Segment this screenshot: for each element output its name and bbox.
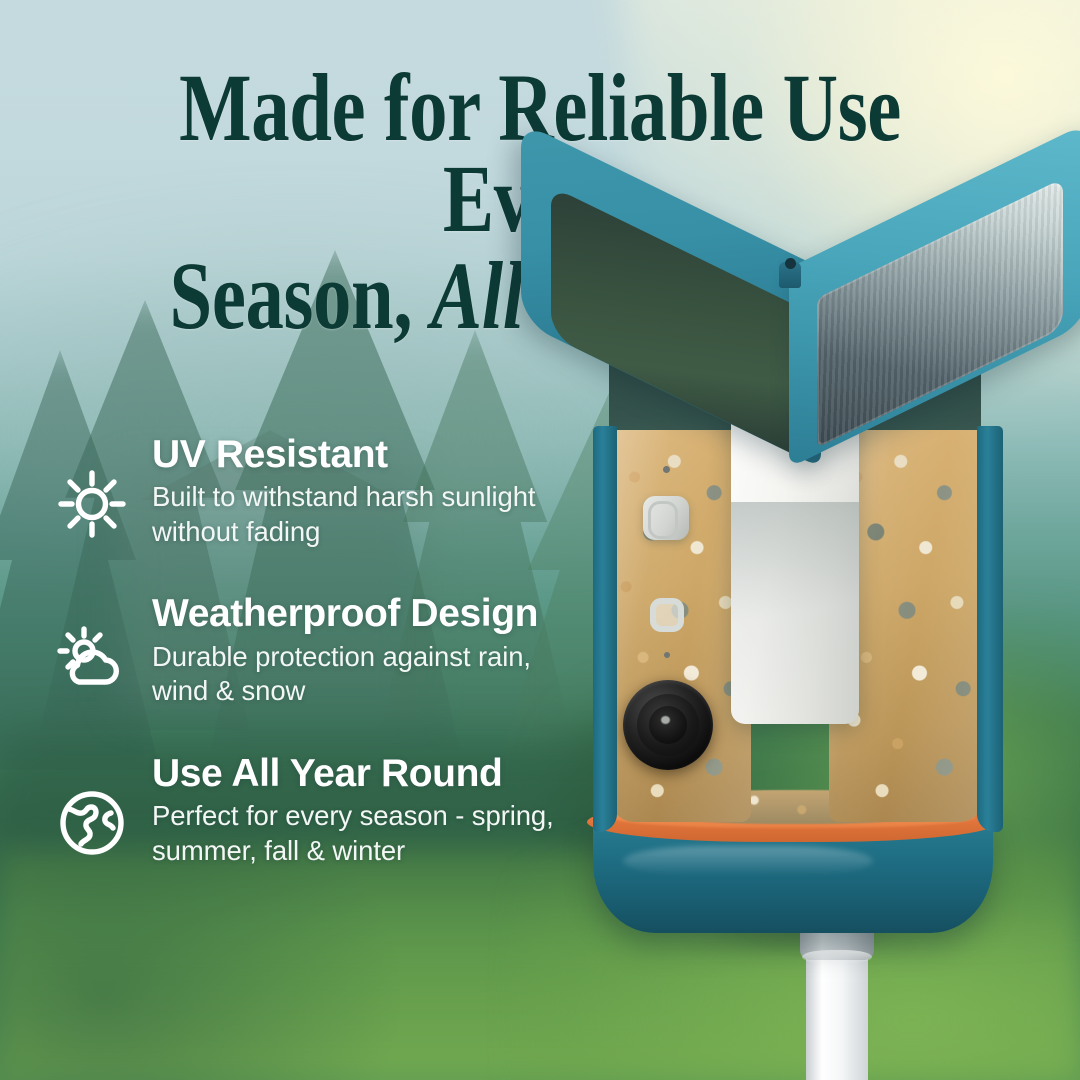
tray-gloss-highlight [623,846,873,876]
feature-title: UV Resistant [152,434,535,476]
feature-description-line-2: wind & snow [152,674,538,709]
feature-text: UV Resistant Built to withstand harsh su… [130,432,535,549]
camera-lens-glint [661,716,670,724]
sun-icon [54,466,130,542]
camera-sensor [643,496,689,540]
feature-description-line-1: Durable protection against rain, [152,640,538,675]
camera-status-indicator [650,598,684,632]
feature-description-line-2: without fading [152,515,535,550]
roof [515,250,1080,500]
sun-behind-cloud-icon [54,625,130,701]
feature-title: Use All Year Round [152,753,554,795]
camera-lens-glass [649,706,687,744]
feature-text: Use All Year Round Perfect for every sea… [130,751,554,868]
feature-description-line-1: Perfect for every season - spring, [152,799,554,834]
camera-microphone-pinhole [664,652,670,658]
feature-description-line-2: summer, fall & winter [152,834,554,869]
feature-title: Weatherproof Design [152,593,538,635]
feature-text: Weatherproof Design Durable protection a… [130,591,538,708]
camera-shadow [731,502,859,724]
roof-apex-hanger [785,258,796,269]
globe-icon [54,785,130,861]
feature-description-line-1: Built to withstand harsh sunlight [152,480,535,515]
product-image-smart-bird-feeder [515,250,1080,1080]
headline-line-2-roman: Season, [170,242,431,349]
